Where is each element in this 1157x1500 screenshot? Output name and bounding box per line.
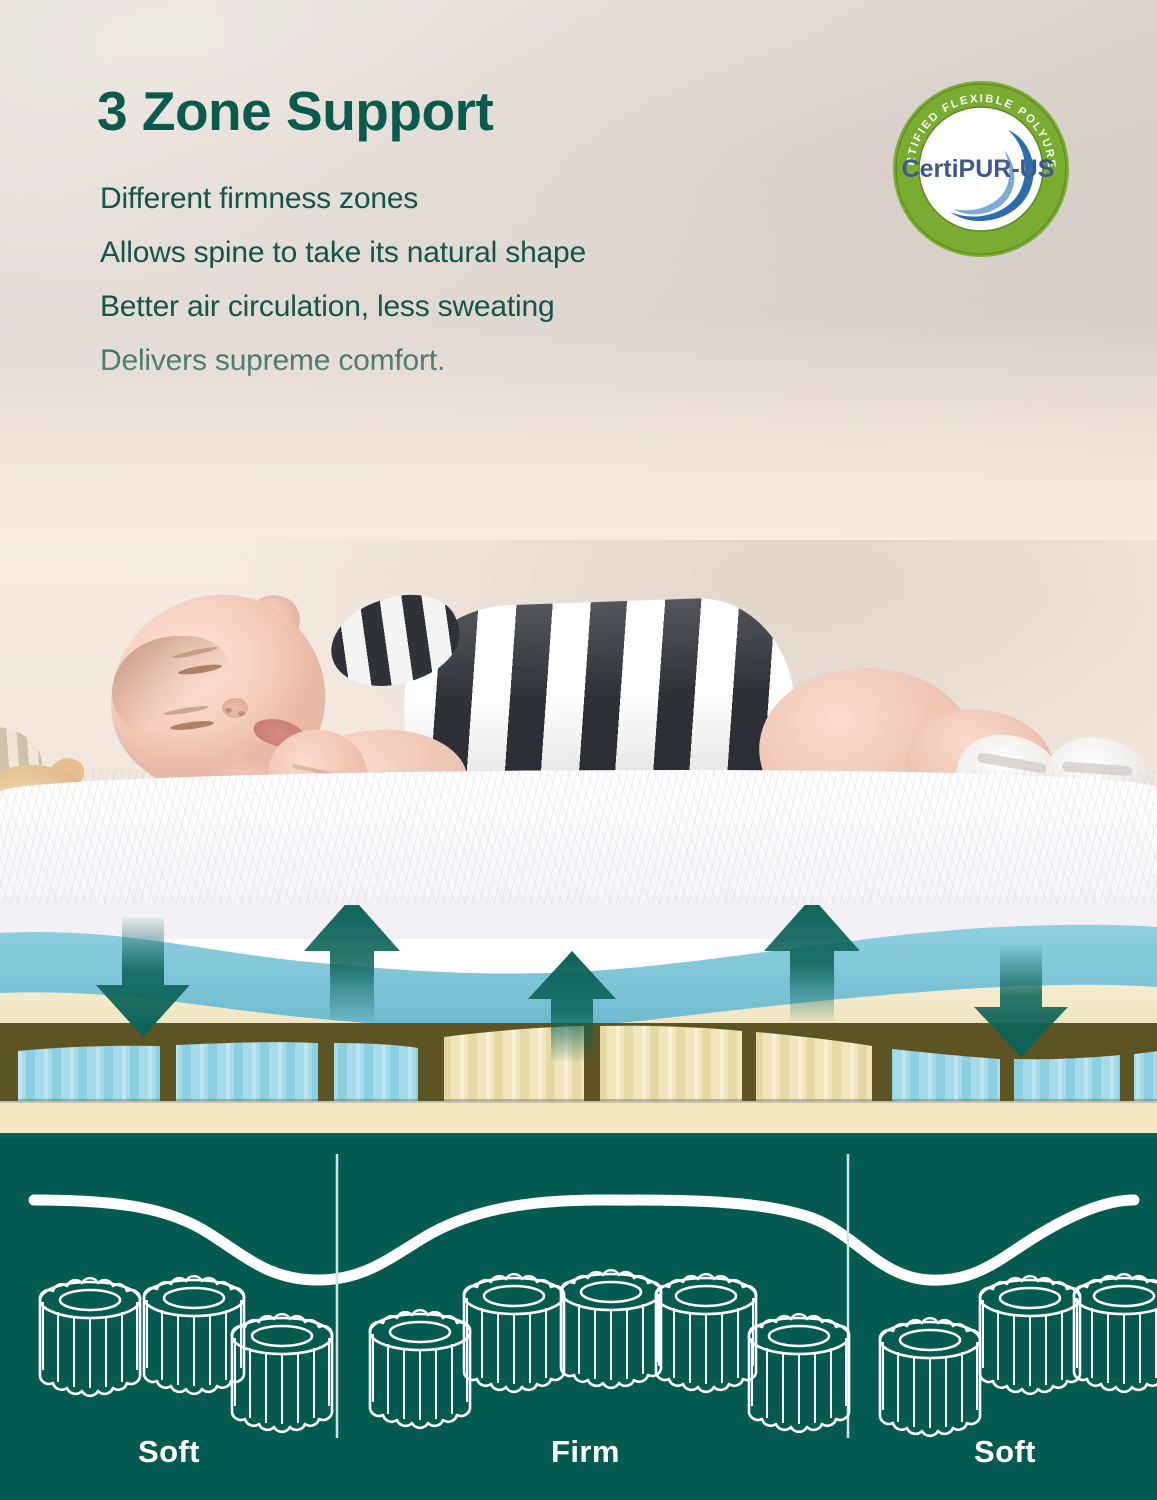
coil-group-soft-left xyxy=(40,1276,332,1432)
coil-group-firm xyxy=(370,1270,849,1432)
feature-item: Different firmness zones xyxy=(100,184,860,214)
feature-list: Different firmness zones Allows spine to… xyxy=(100,184,860,400)
certipur-us-badge: CONTAINS CERTIFIED FLEXIBLE POLYURETHANE… xyxy=(890,78,1072,260)
coil-group-soft-right xyxy=(880,1274,1157,1436)
spine-curve xyxy=(34,1200,1134,1280)
page-title: 3 Zone Support xyxy=(97,84,493,139)
badge-registered-mark: ® xyxy=(1042,158,1049,168)
feature-item: Delivers supreme comfort. xyxy=(100,346,860,376)
baby-photo xyxy=(0,540,1157,930)
soft-zone-left-blocks xyxy=(18,1042,418,1101)
baby-nose xyxy=(222,698,248,718)
zone-label-soft-left: Soft xyxy=(138,1434,200,1470)
nostril xyxy=(225,708,232,713)
hero-section: 3 Zone Support Different firmness zones … xyxy=(0,0,1157,548)
badge-center-text: CertiPUR-US xyxy=(902,155,1055,183)
zone-label-soft-right: Soft xyxy=(974,1434,1036,1470)
zone-label-firm: Firm xyxy=(551,1434,620,1470)
feature-item: Allows spine to take its natural shape xyxy=(100,238,860,268)
base-foam-layer xyxy=(0,1103,1157,1133)
nostril xyxy=(238,711,245,716)
feature-item: Better air circulation, less sweating xyxy=(100,292,860,322)
product-infographic: 3 Zone Support Different firmness zones … xyxy=(0,0,1157,1500)
foam-cross-section xyxy=(0,905,1157,1140)
zone-diagram: Soft Firm Soft xyxy=(0,1138,1157,1500)
